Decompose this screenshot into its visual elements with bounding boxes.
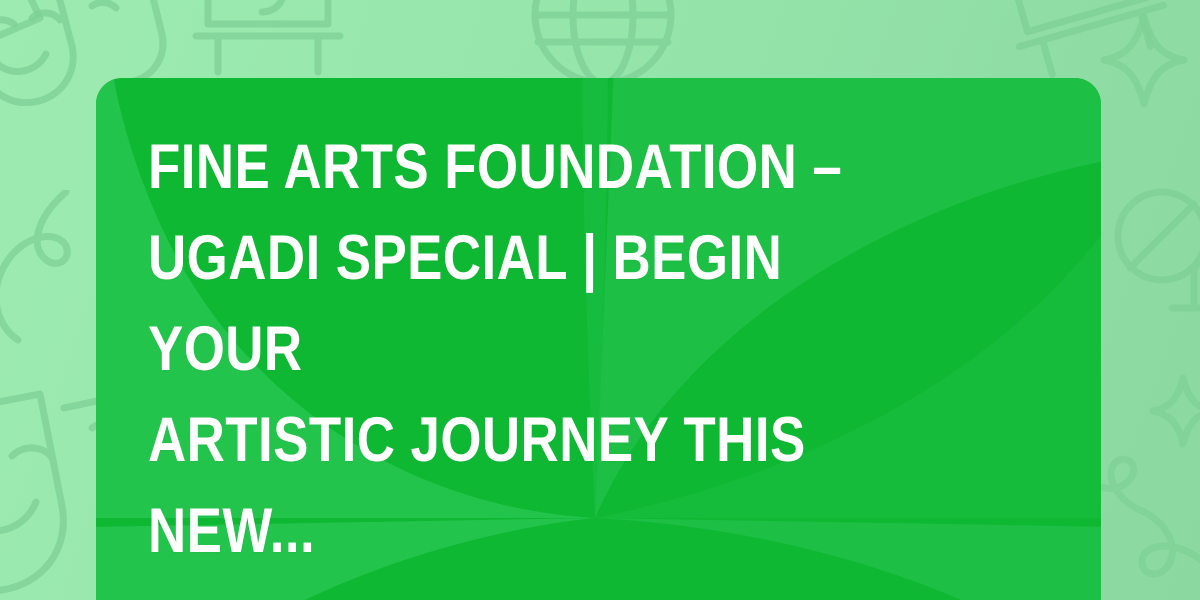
ticket-icon: [0, 0, 46, 48]
sparkle-icon: [1148, 372, 1200, 450]
swirl-flourish-icon: [0, 190, 80, 360]
event-card[interactable]: Fine Arts Foundation – Ugadi Special | B…: [96, 78, 1101, 600]
sparkle-icon: [1098, 8, 1190, 112]
event-datetime: Tue, 24 Mar at 11:00 AM: [148, 577, 923, 600]
banner-stage: Fine Arts Foundation – Ugadi Special | B…: [0, 0, 1200, 600]
easel-icon: [178, 0, 368, 82]
event-title: Fine Arts Foundation – Ugadi Special | B…: [148, 122, 905, 577]
microphone-icon: [1110, 178, 1200, 368]
